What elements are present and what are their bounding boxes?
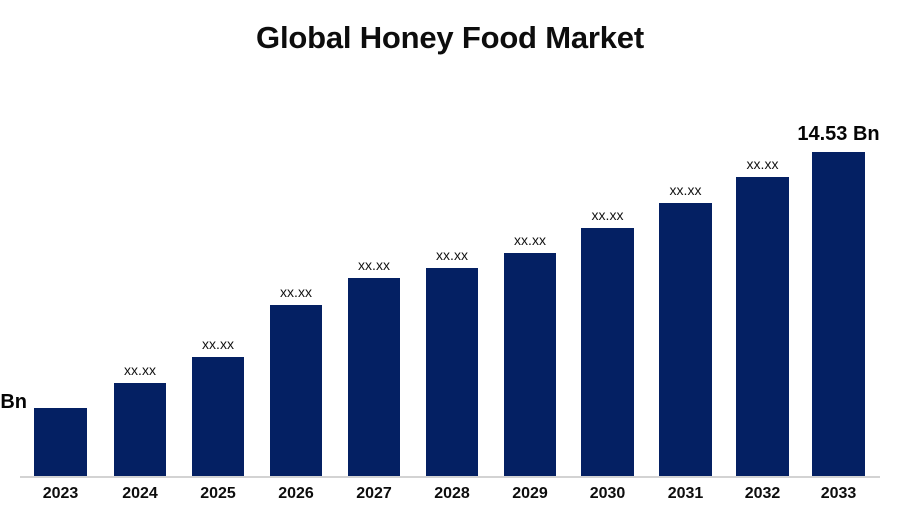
bar-2033[interactable]: 14.53 Bn — [812, 152, 865, 476]
bar-rect[interactable] — [192, 357, 244, 476]
bar-value-label: xx.xx — [358, 258, 390, 272]
bar-2030[interactable]: xx.xx — [581, 228, 634, 476]
x-axis-tick-2025: 2025 — [192, 484, 244, 503]
x-axis-tick-2024: 2024 — [114, 484, 166, 503]
plot-area: 8.94 Bnxx.xxxx.xxxx.xxxx.xxxx.xxxx.xxxx.… — [0, 0, 900, 525]
x-axis-tick-2032: 2032 — [736, 484, 789, 503]
x-axis-tick-2033: 2033 — [812, 484, 865, 503]
bar-value-label: xx.xx — [592, 208, 624, 222]
bar-value-label: 14.53 Bn — [797, 124, 879, 144]
x-axis-line — [20, 476, 880, 478]
bar-2026[interactable]: xx.xx — [270, 305, 322, 476]
x-axis-tick-2031: 2031 — [659, 484, 712, 503]
bar-value-label: xx.xx — [202, 337, 234, 351]
bar-2031[interactable]: xx.xx — [659, 203, 712, 476]
bar-2029[interactable]: xx.xx — [504, 253, 556, 476]
chart-container: Global Honey Food Market 8.94 Bnxx.xxxx.… — [0, 0, 900, 525]
x-axis-tick-2030: 2030 — [581, 484, 634, 503]
bar-value-label: xx.xx — [747, 157, 779, 171]
bar-rect[interactable] — [348, 278, 400, 476]
bar-rect[interactable] — [426, 268, 478, 476]
bar-2024[interactable]: xx.xx — [114, 383, 166, 476]
bar-value-label: 8.94 Bn — [0, 392, 27, 412]
bar-value-label: xx.xx — [436, 248, 468, 262]
bar-value-label: xx.xx — [280, 285, 312, 299]
bar-value-label: xx.xx — [670, 183, 702, 197]
x-axis-tick-2026: 2026 — [270, 484, 322, 503]
bar-rect[interactable] — [659, 203, 712, 476]
bar-2025[interactable]: xx.xx — [192, 357, 244, 476]
bar-2023[interactable]: 8.94 Bn — [34, 408, 87, 476]
bar-2028[interactable]: xx.xx — [426, 268, 478, 476]
bar-value-label: xx.xx — [124, 363, 156, 377]
bar-rect[interactable] — [812, 152, 865, 476]
bar-rect[interactable] — [270, 305, 322, 476]
x-axis-tick-2029: 2029 — [504, 484, 556, 503]
bar-rect[interactable] — [114, 383, 166, 476]
bar-rect[interactable] — [736, 177, 789, 476]
bar-rect[interactable] — [504, 253, 556, 476]
x-axis-tick-2027: 2027 — [348, 484, 400, 503]
bar-2027[interactable]: xx.xx — [348, 278, 400, 476]
x-axis-tick-2028: 2028 — [426, 484, 478, 503]
bar-rect[interactable] — [34, 408, 87, 476]
bar-value-label: xx.xx — [514, 233, 546, 247]
bar-rect[interactable] — [581, 228, 634, 476]
bar-2032[interactable]: xx.xx — [736, 177, 789, 476]
x-axis-tick-2023: 2023 — [34, 484, 87, 503]
